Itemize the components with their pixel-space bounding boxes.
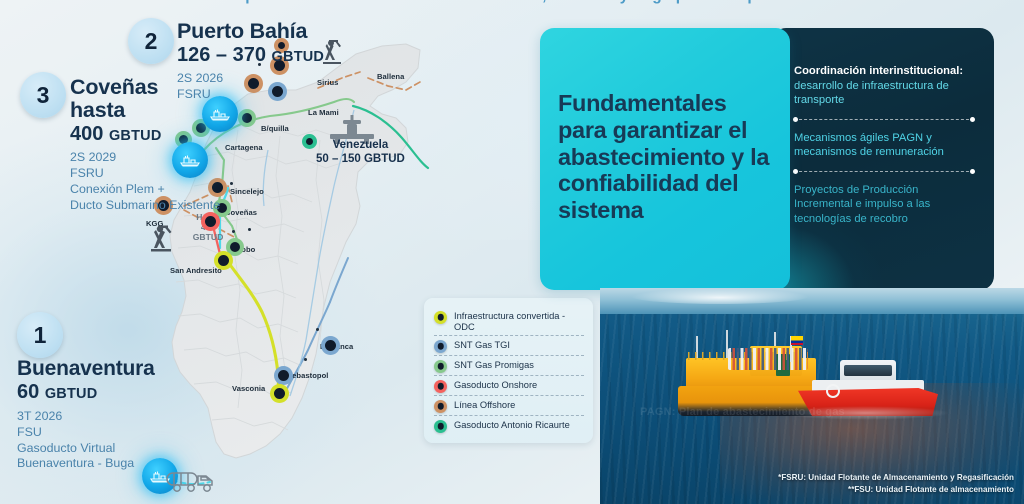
map-node-barranca bbox=[325, 340, 336, 351]
legend-item-gasoducto-onshore[interactable]: Gasoducto Onshore bbox=[434, 375, 584, 395]
map-node-sebastopol bbox=[278, 370, 289, 381]
badge-number-1[interactable]: 1 bbox=[17, 312, 63, 358]
photo-watermark: PAGN: Plan de abastecimiento de gas bbox=[640, 406, 845, 418]
map-label-sincelejo: Sincelejo bbox=[230, 187, 264, 196]
legend-item-snt-tgi[interactable]: SNT Gas TGI bbox=[434, 335, 584, 355]
map-label-sebastopol: Sebastopol bbox=[287, 371, 328, 380]
crew-on-deck bbox=[728, 348, 808, 370]
map-label-san-andresito: San Andresito bbox=[170, 266, 222, 275]
panel-fundamentales-text: Fundamentales para garantizar el abastec… bbox=[540, 90, 790, 228]
page-headline: para contribuir al suministro en el cort… bbox=[0, 0, 1024, 5]
panel-item-coordinacion-strong: Coordinación interinstitucional: bbox=[794, 65, 963, 77]
callout-unit-buenaventura: GBTUD bbox=[45, 386, 98, 402]
map-node-venezuela-terminus bbox=[306, 138, 313, 145]
panel-item-mecanismos: Mecanismos ágiles PAGN y mecanismos de r… bbox=[794, 131, 974, 160]
tanker-truck-icon bbox=[165, 465, 221, 495]
panel-item-coordinacion: Coordinación interinstitucional: desarro… bbox=[794, 64, 974, 108]
legend-item-linea-offshore[interactable]: Línea Offshore bbox=[434, 395, 584, 415]
legend-dot-odc bbox=[434, 311, 447, 324]
legend-item-antonio-ricaurte[interactable]: Gasoducto Antonio Ricaurte bbox=[434, 415, 584, 435]
panel-fundamentales: Fundamentales para garantizar el abastec… bbox=[540, 28, 790, 290]
legend-dot-gasoducto-onshore bbox=[434, 380, 447, 393]
legend-label-snt-promigas: SNT Gas Promigas bbox=[454, 359, 534, 371]
callout-value-puerto-bahia: 126 – 370 GBTUD bbox=[177, 44, 324, 66]
panel-item-coordinacion-rest: desarrollo de infraestructura de transpo… bbox=[794, 80, 949, 107]
legend-dot-antonio-ricaurte bbox=[434, 420, 447, 433]
venezuela-name: Venezuela bbox=[316, 138, 405, 152]
callout-buenaventura: Buenaventura 60 GBTUD 3T 2026 FSU Gasodu… bbox=[17, 358, 155, 472]
legend-label-gasoducto-onshore: Gasoducto Onshore bbox=[454, 379, 537, 391]
map-node-onshore bbox=[205, 216, 216, 227]
badge-number-3[interactable]: 3 bbox=[20, 72, 66, 118]
photo-vessels-at-sea: PAGN: Plan de abastecimiento de gas *FSR… bbox=[600, 288, 1024, 504]
map-legend: Infraestructura convertida - ODC SNT Gas… bbox=[424, 298, 593, 443]
footnotes: *FSRU: Unidad Flotante de Almacenamiento… bbox=[778, 472, 1014, 495]
callout-number-buenaventura: 60 bbox=[17, 381, 39, 403]
map-label-ballena: Ballena bbox=[377, 72, 404, 81]
callout-name-buenaventura: Buenaventura bbox=[17, 358, 155, 380]
legend-label-linea-offshore: Línea Offshore bbox=[454, 399, 515, 411]
map-node-san-andresito bbox=[218, 255, 229, 266]
cloud bbox=[630, 288, 810, 304]
infographic-canvas: para contribuir al suministro en el cort… bbox=[0, 0, 1024, 504]
map-label-venezuela: Venezuela 50 – 150 GBTUD bbox=[316, 138, 405, 167]
legend-item-odc[interactable]: Infraestructura convertida - ODC bbox=[434, 307, 584, 335]
callout-unit-puerto-bahia: GBTUD bbox=[272, 49, 325, 65]
legend-item-snt-promigas[interactable]: SNT Gas Promigas bbox=[434, 355, 584, 375]
callout-unit-covenas: GBTUD bbox=[109, 128, 162, 144]
map-node-vasconia bbox=[274, 388, 285, 399]
callout-value-covenas: 400 GBTUD bbox=[70, 123, 220, 145]
map-label-cartagena: Cartagena bbox=[225, 143, 263, 152]
oil-derrick-icon-kgg bbox=[146, 224, 176, 252]
callout-sub-buenaventura: 3T 2026 FSU Gasoducto Virtual Buenaventu… bbox=[17, 409, 155, 473]
callout-number-puerto-bahia: 126 – 370 bbox=[177, 44, 266, 66]
callout-name-covenas: Coveñas hasta bbox=[70, 76, 220, 122]
panel-divider-1 bbox=[794, 119, 974, 120]
legend-label-antonio-ricaurte: Gasoducto Antonio Ricaurte bbox=[454, 419, 570, 431]
panel-divider-2 bbox=[794, 171, 974, 172]
map-label-bquilla: B/quilla bbox=[261, 124, 289, 133]
panel-item-proyectos: Proyectos de Producción Incremental e im… bbox=[794, 183, 974, 227]
legend-dot-linea-offshore bbox=[434, 400, 447, 413]
panel-coordination: Coordinación interinstitucional: desarro… bbox=[772, 28, 994, 290]
callout-sub-covenas: 2S 2029 FSRU Conexión Plem + Ducto Subma… bbox=[70, 150, 220, 214]
callout-number-covenas: 400 bbox=[70, 123, 103, 145]
colombia-flag-icon bbox=[791, 336, 803, 345]
venezuela-value: 50 – 150 GBTUD bbox=[316, 152, 405, 166]
map-node-jobo bbox=[230, 242, 240, 252]
callout-name-puerto-bahia: Puerto Bahía bbox=[177, 20, 324, 43]
badge-number-2[interactable]: 2 bbox=[128, 18, 174, 64]
map-label-vasconia: Vasconia bbox=[232, 384, 265, 393]
callout-covenas: Coveñas hasta 400 GBTUD 2S 2029 FSRU Con… bbox=[70, 76, 220, 214]
callout-value-buenaventura: 60 GBTUD bbox=[17, 381, 155, 403]
map-node-la-mami bbox=[242, 113, 252, 123]
legend-dot-snt-promigas bbox=[434, 360, 447, 373]
legend-label-snt-tgi: SNT Gas TGI bbox=[454, 339, 510, 351]
legend-dot-snt-tgi bbox=[434, 340, 447, 353]
legend-label-odc: Infraestructura convertida - ODC bbox=[454, 310, 584, 333]
